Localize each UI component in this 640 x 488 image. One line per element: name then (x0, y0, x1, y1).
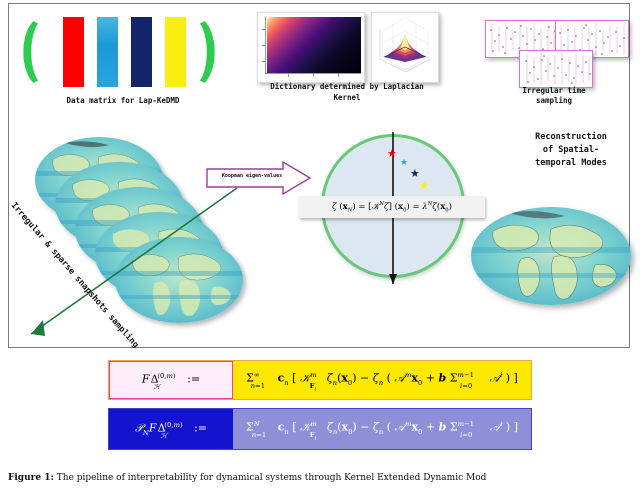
heatmap-ytick (262, 61, 265, 62)
irregular-sampling-label-line1: Irregular time (479, 86, 629, 96)
equation-2-lhs-text: 𝒫NF Δℋ(0,m) := (135, 421, 207, 437)
heatmap-xtick (288, 74, 289, 77)
data-matrix-column-2 (97, 17, 118, 87)
koopman-equation-text: ζ (xN) = [𝒦Nζ] (x0) = λNζ(x0) (332, 201, 452, 214)
reconstruction-label-line2: of Spatial- (509, 144, 633, 157)
equation-box-full-operator: F Δℋ(0,m) := Σ∞n=1 cn [ 𝒦mFt ζn(x0) − ζn… (108, 360, 532, 400)
data-matrix-panel: Data matrix for Lap-KeDMD (29, 12, 219, 112)
equation-1-rhs-text: Σ∞n=1 cn [ 𝒦mFt ζn(x0) − ζn ( 𝒜mx0 + b Σ… (246, 371, 518, 388)
dictionary-label-line2: Kernel (241, 92, 453, 103)
koopman-arrow-label: Koopman eigen-values (213, 173, 291, 179)
heatmap-ytick (262, 29, 265, 30)
unit-circle-panel: ★ ★ ★ ★ ζ (xN) = [𝒦Nζ] (x0) = λNζ(x0) (309, 132, 469, 287)
figure-caption: Figure 1: The pipeline of interpretabili… (8, 472, 636, 484)
equation-2-rhs-text: ΣNn=1 cn [ 𝒦mFt ζn(x0) − ζn ( 𝒜mx0 + b Σ… (246, 420, 518, 437)
equation-box-projected-operator: 𝒫NF Δℋ(0,m) := ΣNn=1 cn [ 𝒦mFt ζn(x0) − … (108, 408, 532, 450)
koopman-eigenvalues-arrow: Koopman eigen-values (205, 161, 313, 195)
dictionary-panel: Dictionary determined by Laplacian Kerne… (255, 9, 439, 111)
reconstruction-label-line1: Reconstruction (509, 131, 633, 144)
figure-caption-text: The pipeline of interpretability for dyn… (57, 473, 487, 483)
sampling-direction-arrow (9, 184, 244, 349)
figure-caption-label: Figure 1: (8, 473, 54, 483)
irregular-sampling-label: Irregular time sampling (479, 86, 629, 106)
right-bracket-icon (173, 16, 215, 88)
heatmap-xtick (338, 74, 339, 77)
heatmap-y-axis (265, 17, 266, 73)
heatmap-ytick (262, 45, 265, 46)
world-map-svg (471, 207, 631, 305)
eigenvalue-star-4: ★ (419, 180, 429, 191)
surface-plot-svg (372, 13, 438, 82)
equation-2-lhs: 𝒫NF Δℋ(0,m) := (109, 409, 233, 449)
kernel-surface-plot (371, 12, 439, 83)
eigenvalue-star-3: ★ (410, 168, 420, 179)
equation-1-lhs: F Δℋ(0,m) := (109, 361, 233, 399)
irregular-time-sampling-panel: Irregular time sampling (479, 10, 629, 110)
kernel-heatmap-plot (257, 12, 365, 83)
time-series-panel (519, 50, 593, 88)
left-bracket-icon (23, 16, 65, 88)
data-matrix-column-1 (63, 17, 84, 87)
data-matrix-label: Data matrix for Lap-KeDMD (25, 96, 221, 105)
green-arrow-svg (9, 184, 244, 349)
time-series-svg (520, 51, 592, 87)
equation-1-lhs-text: F Δℋ(0,m) := (142, 372, 200, 388)
irregular-sampling-label-line2: sampling (479, 96, 629, 106)
reconstruction-label: Reconstruction of Spatial- temporal Mode… (509, 131, 633, 170)
koopman-eigenfunction-equation: ζ (xN) = [𝒦Nζ] (x0) = λNζ(x0) (299, 196, 485, 218)
data-matrix-column-3 (131, 17, 152, 87)
eigenvalue-star-2: ★ (400, 158, 408, 169)
equation-1-rhs: Σ∞n=1 cn [ 𝒦mFt ζn(x0) − ζn ( 𝒜mx0 + b Σ… (233, 361, 531, 399)
reconstructed-globe (471, 207, 631, 305)
reconstruction-label-line3: temporal Modes (509, 157, 633, 170)
eigenvalue-star-1: ★ (387, 148, 397, 159)
figure-frame: Data matrix for Lap-KeDMD (8, 3, 630, 348)
magma-heatmap-image (267, 17, 361, 73)
equation-2-rhs: ΣNn=1 cn [ 𝒦mFt ζn(x0) − ζn ( 𝒜mx0 + b Σ… (233, 409, 531, 449)
heatmap-xtick (313, 74, 314, 77)
dictionary-label-line1: Dictionary determined by Laplacian (241, 81, 453, 92)
dictionary-label: Dictionary determined by Laplacian Kerne… (241, 81, 453, 103)
